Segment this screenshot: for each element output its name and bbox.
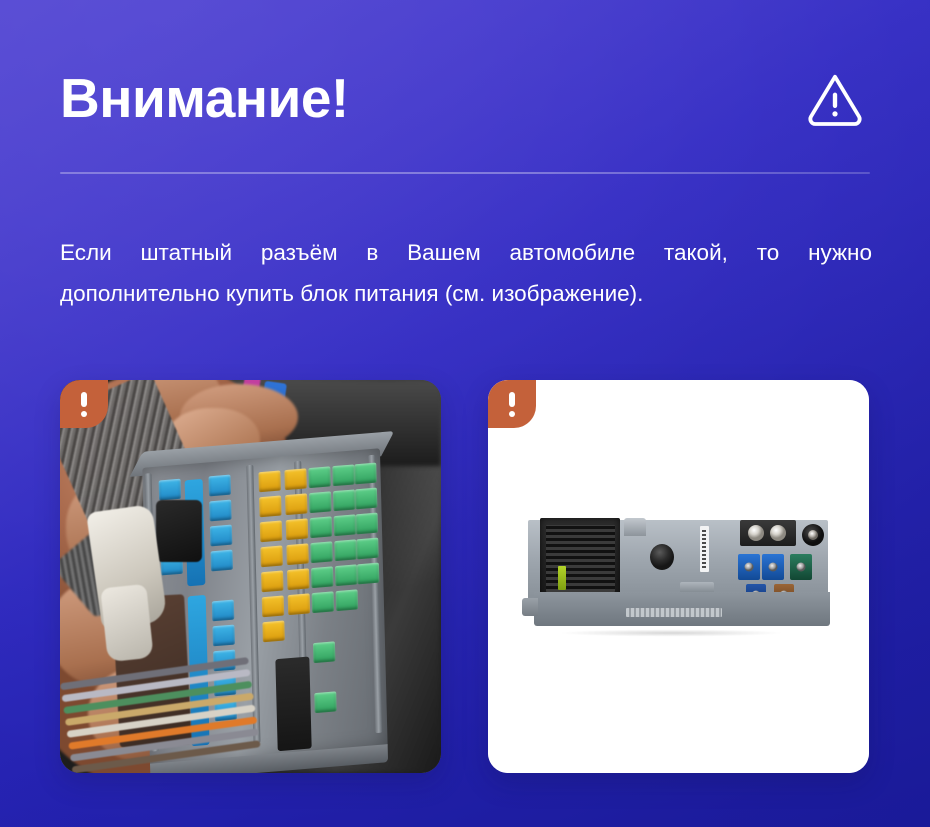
fakra-connector-green: [790, 554, 812, 580]
connector-slot: [275, 656, 311, 751]
connector-latch: [156, 500, 202, 562]
connector-pin-field: [546, 525, 615, 592]
module-clip: [624, 518, 646, 536]
image-cards: [60, 380, 870, 773]
coax-port: [748, 525, 764, 541]
module-mounting-ear: [522, 598, 538, 616]
module-label-sticker: [700, 526, 709, 572]
warning-badge: [60, 380, 108, 428]
fakra-connector-blue: [762, 554, 784, 580]
power-module-photo: [488, 380, 869, 773]
warning-badge: [488, 380, 536, 428]
exclamation-icon: [81, 392, 87, 407]
connector-photo: [60, 380, 441, 773]
warning-slide: Внимание! Если штатный разъём в Вашем ав…: [0, 0, 930, 827]
warning-triangle-icon: [806, 69, 864, 127]
body-copy: Если штатный разъём в Вашем автомобиле т…: [60, 232, 872, 314]
module-serial-label: [626, 608, 722, 617]
power-module-photo-card[interactable]: [488, 380, 869, 773]
module-shadow: [516, 628, 826, 638]
exclamation-dot-icon: [509, 411, 515, 417]
module-black-connector: [540, 518, 620, 600]
header: Внимание!: [60, 52, 870, 144]
body-copy-line-1: Если штатный разъём в Вашем автомобиле т…: [60, 232, 872, 273]
exclamation-icon: [509, 392, 515, 407]
module-knob: [650, 544, 674, 570]
coax-port: [770, 525, 786, 541]
white-lock-tab: [100, 584, 153, 662]
coax-connector-pair: [740, 520, 796, 546]
module-screw: [802, 524, 824, 546]
power-module: [528, 514, 834, 632]
body-copy-line-2: дополнительно купить блок питания (см. и…: [60, 273, 872, 314]
connector-photo-card[interactable]: [60, 380, 441, 773]
exclamation-dot-icon: [81, 411, 87, 417]
page-title: Внимание!: [60, 71, 349, 126]
green-lock-tab: [558, 566, 566, 590]
fakra-connector-blue: [738, 554, 760, 580]
header-divider: [60, 172, 870, 174]
